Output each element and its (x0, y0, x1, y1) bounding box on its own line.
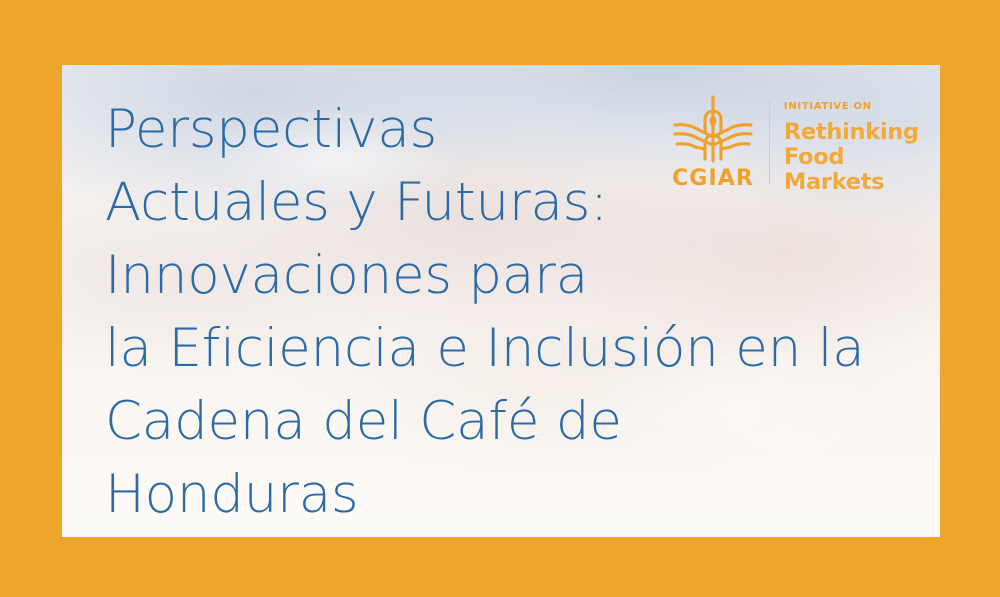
initiative-eyebrow: INITIATIVE ON (784, 102, 940, 112)
title-line-3: Innovaciones para (105, 239, 745, 312)
initiative-name-line-2: Food Markets (784, 145, 940, 195)
initiative-name-line-1: Rethinking (784, 120, 940, 145)
title-line-4: la Eficiencia e Inclusión en la (105, 312, 745, 385)
title-slide: Perspectivas Actuales y Futuras: Innovac… (0, 0, 1000, 597)
content-panel: Perspectivas Actuales y Futuras: Innovac… (62, 65, 940, 537)
cgiar-initiative-logo: CGIAR INITIATIVE ON Rethinking Food Mark… (671, 93, 940, 195)
cgiar-logo-mark: CGIAR (671, 93, 755, 190)
title-line-1: Perspectivas (105, 93, 745, 166)
logo-divider (769, 100, 770, 184)
page-title: Perspectivas Actuales y Futuras: Innovac… (105, 93, 745, 531)
title-line-6: Honduras (105, 458, 745, 531)
cgiar-wordmark: CGIAR (672, 168, 754, 190)
title-line-2: Actuales y Futuras: (105, 166, 745, 239)
initiative-lockup-text: INITIATIVE ON Rethinking Food Markets (784, 93, 940, 195)
cgiar-wheat-wings-icon (671, 93, 755, 165)
title-line-5: Cadena del Café de (105, 385, 745, 458)
